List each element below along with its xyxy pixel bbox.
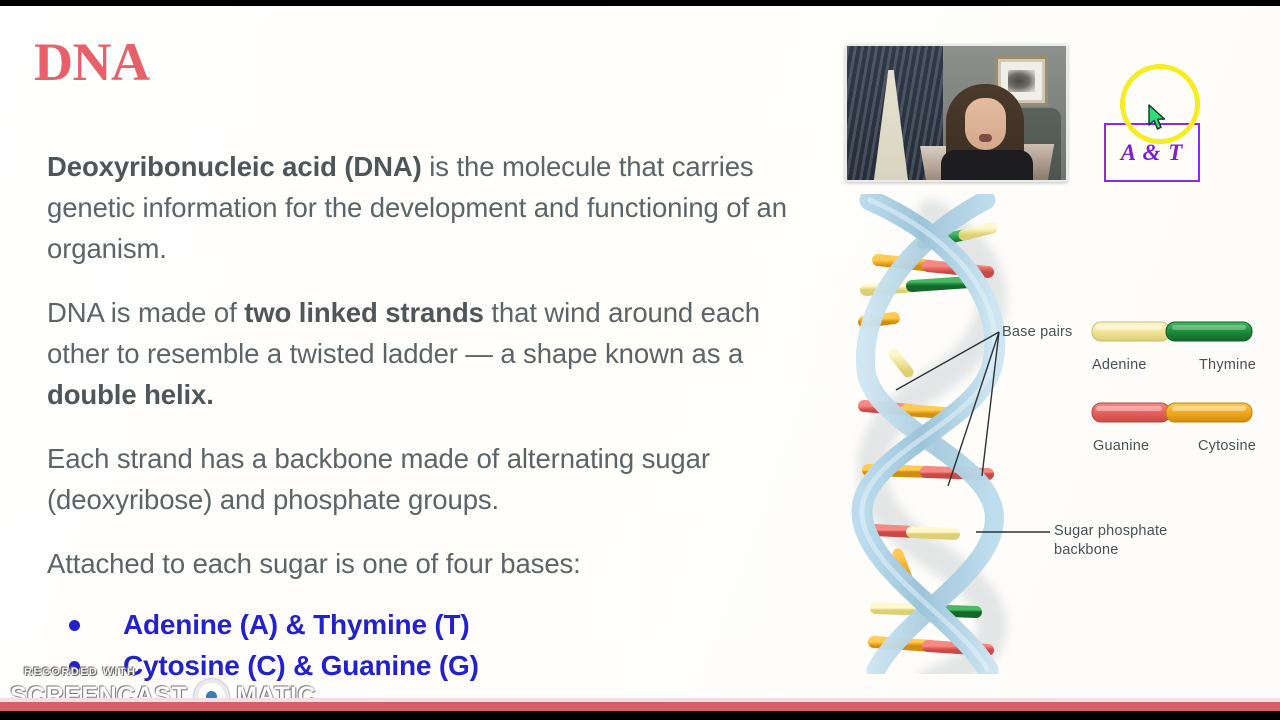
watermark-screencast-text: SCREENCAST <box>10 682 187 698</box>
webcam-video-overlay[interactable] <box>845 44 1068 182</box>
label-base-pairs: Base pairs <box>1002 324 1073 340</box>
dna-double-helix-illustration <box>836 194 1280 674</box>
legend-label-thymine: Thymine <box>1199 357 1256 373</box>
page-title: DNA <box>34 34 150 90</box>
paragraph-strands: DNA is made of two linked strands that w… <box>47 292 807 415</box>
label-sugar-phosphate-backbone: Sugar phosphate backbone <box>1054 522 1194 560</box>
list-item-label: Adenine (A) & Thymine (T) <box>123 609 470 640</box>
mouse-cursor-icon <box>1148 104 1168 131</box>
list-item: Adenine (A) & Thymine (T) <box>47 604 807 645</box>
watermark-recorded-with: RECORDED WITH <box>24 666 316 678</box>
bottom-band-red <box>0 702 1280 711</box>
letterbox-top <box>0 0 1280 6</box>
screencast-o-matic-watermark: RECORDED WITH SCREENCAST MATIC <box>10 666 316 698</box>
letterbox-bottom <box>0 711 1280 720</box>
dna-diagram: Base pairs Sugar phosphate backbone Aden… <box>836 194 1280 674</box>
webcam-presenter-face <box>965 98 1006 150</box>
webcam-presenter-shirt <box>941 150 1033 180</box>
screen-recording-frame: DNA Deoxyribonucleic acid (DNA) is the m… <box>0 0 1280 720</box>
term-deoxyribonucleic-acid: Deoxyribonucleic acid (DNA) <box>47 151 422 182</box>
paragraph-strands-a: DNA is made of <box>47 297 244 328</box>
term-double-helix: double helix. <box>47 379 214 410</box>
legend-label-adenine: Adenine <box>1092 357 1147 373</box>
watermark-matic-text: MATIC <box>236 682 316 698</box>
annotation-box-label: A & T <box>1106 140 1198 166</box>
bullet-dot-icon <box>69 620 80 631</box>
watermark-record-ring-icon <box>194 679 229 698</box>
paragraph-definition: Deoxyribonucleic acid (DNA) is the molec… <box>47 146 807 269</box>
webcam-presenter-mouth <box>979 134 992 142</box>
slide-body: Deoxyribonucleic acid (DNA) is the molec… <box>47 146 807 686</box>
legend-label-cytosine: Cytosine <box>1198 438 1256 454</box>
presentation-slide: DNA Deoxyribonucleic acid (DNA) is the m… <box>0 6 1280 698</box>
legend-label-guanine: Guanine <box>1093 438 1149 454</box>
paragraph-backbone: Each strand has a backbone made of alter… <box>47 438 807 520</box>
term-two-linked-strands: two linked strands <box>244 297 484 328</box>
paragraph-bases-intro: Attached to each sugar is one of four ba… <box>47 543 807 584</box>
